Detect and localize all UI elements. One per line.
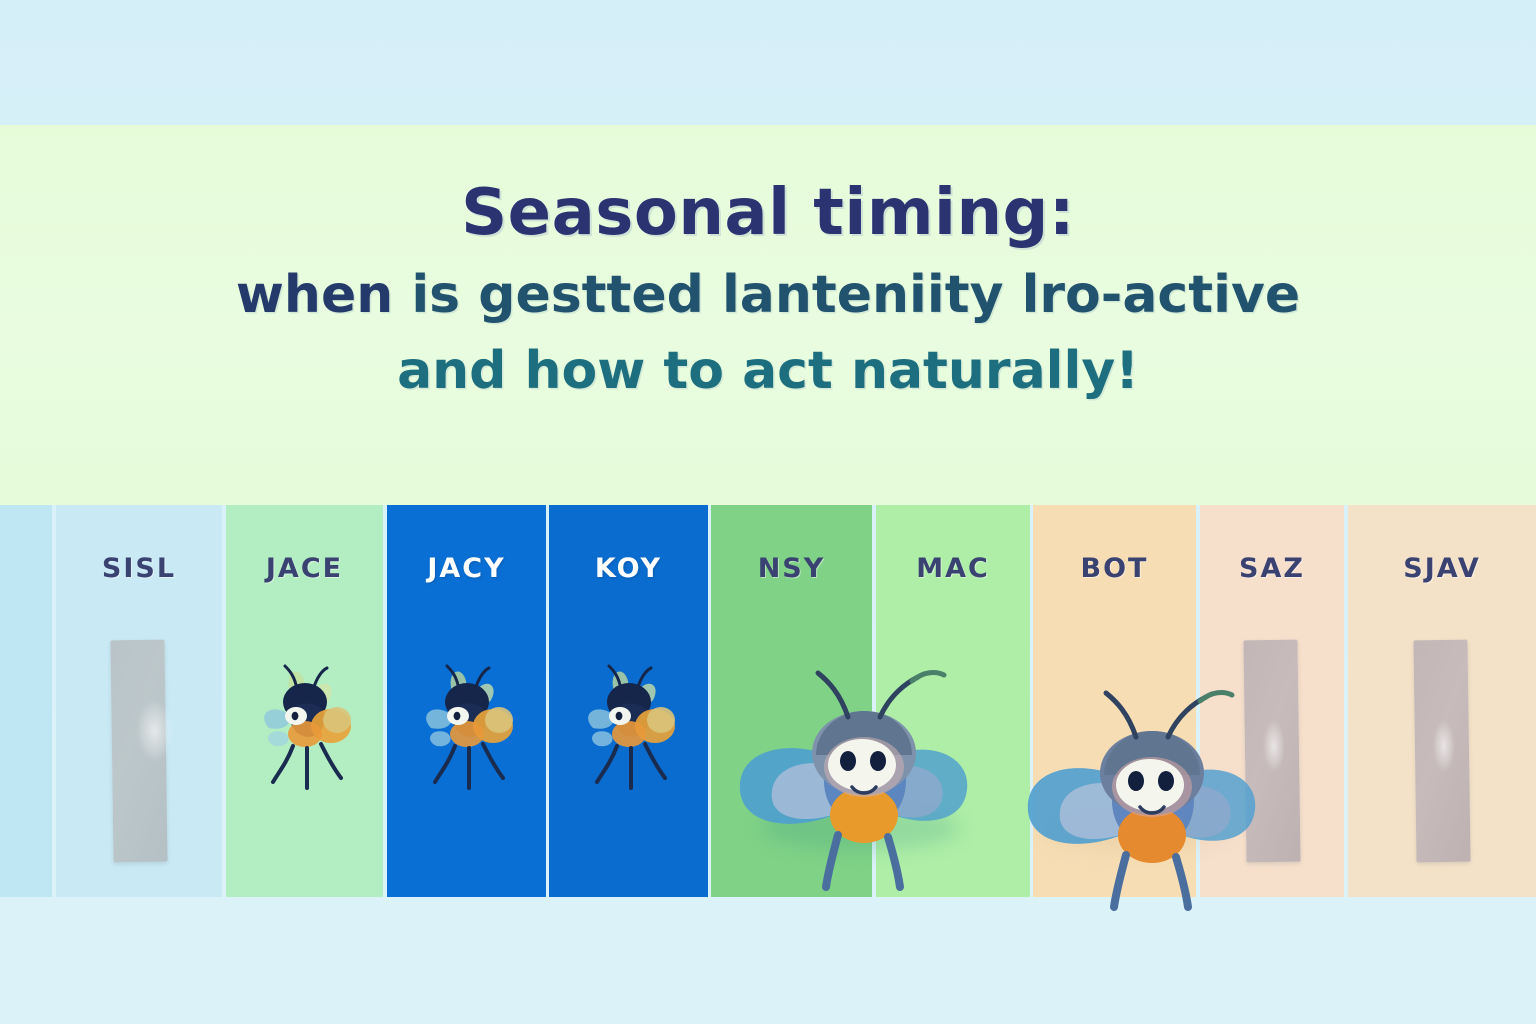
column-label: SISL: [56, 553, 222, 584]
firefly-creature-icon: [407, 650, 527, 800]
timeline-column-jace[interactable]: JACE: [226, 505, 383, 897]
column-label: KOY: [549, 553, 708, 584]
firefly-creature-icon: [245, 650, 365, 800]
column-label: MAC: [876, 553, 1030, 584]
timeline-column-sisl[interactable]: SISL: [56, 505, 222, 897]
poster-canvas: Seasonal timing: when is gestted lanteni…: [0, 0, 1536, 1024]
small-creature: [407, 650, 527, 800]
firefly-creature-icon: [569, 650, 689, 800]
column-label: SJAV: [1348, 553, 1536, 584]
small-creature: [569, 650, 689, 800]
moth-creature-icon: [712, 625, 1012, 925]
moth-creature-icon: [1000, 645, 1300, 945]
placeholder-bar: [1413, 640, 1470, 863]
timeline-column-koy[interactable]: KOY: [549, 505, 708, 897]
column-label: SAZ: [1200, 553, 1344, 584]
small-creature: [245, 650, 365, 800]
timeline-column-sjav[interactable]: SJAV: [1348, 505, 1536, 897]
timeline-strip: SISLJACE JACY: [0, 505, 1536, 897]
column-label: JACY: [387, 553, 546, 584]
page-subtitle: when is gestted lanteniity lro-active an…: [236, 260, 1300, 406]
page-title: Seasonal timing:: [461, 181, 1075, 246]
timeline-column-jacy[interactable]: JACY: [387, 505, 546, 897]
column-label: BOT: [1033, 553, 1196, 584]
title-banner: Seasonal timing: when is gestted lanteni…: [0, 125, 1536, 505]
subtitle-line-1: is gestted lanteniity lro-active: [393, 265, 1300, 325]
subtitle-line-2: and how to act naturally!: [236, 336, 1300, 406]
timeline-column-edge[interactable]: [0, 505, 52, 897]
column-label: JACE: [226, 553, 383, 584]
placeholder-bar: [110, 640, 167, 863]
large-creature-bot: [1000, 645, 1300, 945]
column-label: NSY: [711, 553, 872, 584]
subtitle-lead-word: when: [236, 265, 393, 325]
large-creature-nsy: [712, 625, 1012, 925]
